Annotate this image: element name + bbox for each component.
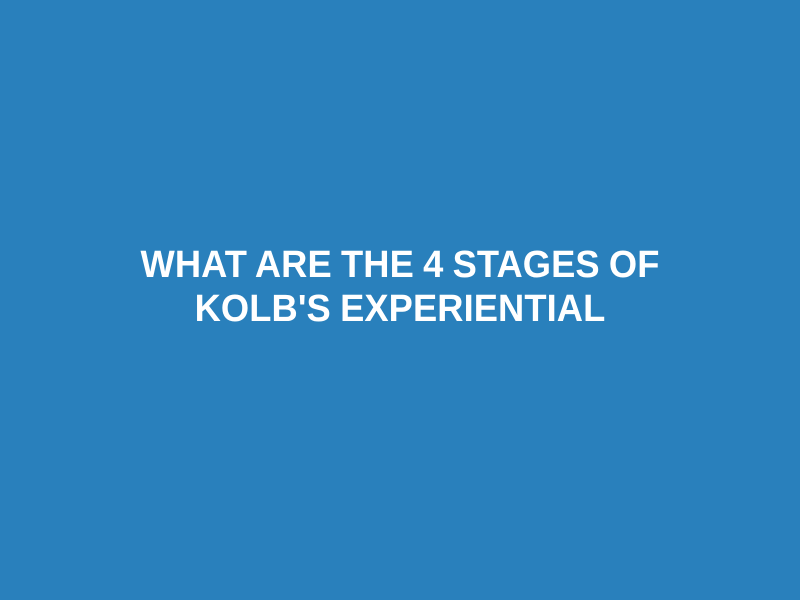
page-title: WHAT ARE THE 4 STAGES OF KOLB'S EXPERIEN… xyxy=(104,243,696,331)
title-overlay: WHAT ARE THE 4 STAGES OF KOLB'S EXPERIEN… xyxy=(90,243,710,331)
featured-image-banner: WHAT ARE THE 4 STAGES OF KOLB'S EXPERIEN… xyxy=(0,0,800,600)
